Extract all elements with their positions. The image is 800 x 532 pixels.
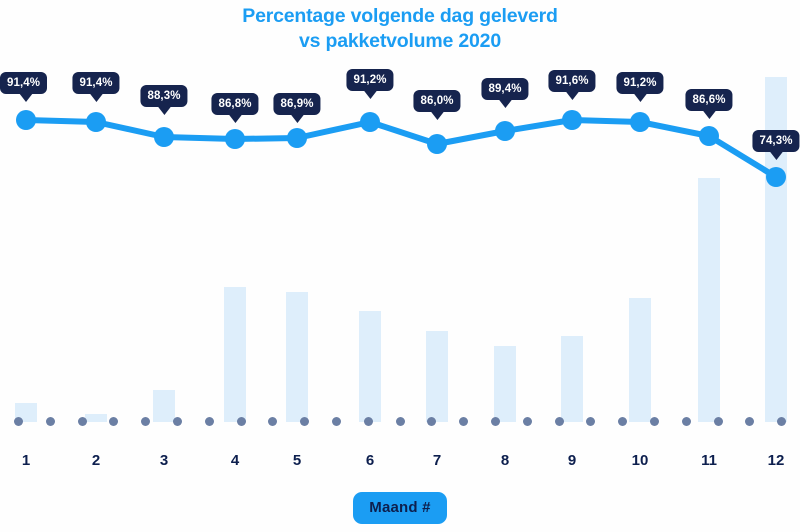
x-tick-12: 12 xyxy=(768,452,785,469)
baseline-dot xyxy=(682,417,691,426)
baseline-dot xyxy=(396,417,405,426)
baseline-dot xyxy=(777,417,786,426)
plot-area xyxy=(0,0,800,440)
baseline-dot xyxy=(523,417,532,426)
baseline-dot xyxy=(14,417,23,426)
value-badge-month-8: 89,4% xyxy=(481,78,528,100)
line-marker-month-9 xyxy=(562,110,582,130)
baseline-dot xyxy=(46,417,55,426)
line-series-layer xyxy=(0,0,800,440)
baseline-dot xyxy=(205,417,214,426)
x-tick-4: 4 xyxy=(231,452,239,469)
line-marker-month-8 xyxy=(495,121,515,141)
baseline-dot xyxy=(268,417,277,426)
baseline-dot xyxy=(586,417,595,426)
baseline-dot xyxy=(364,417,373,426)
x-tick-6: 6 xyxy=(366,452,374,469)
line-marker-month-12 xyxy=(766,167,786,187)
value-badge-month-10: 91,2% xyxy=(616,72,663,94)
x-tick-7: 7 xyxy=(433,452,441,469)
baseline-dot xyxy=(650,417,659,426)
baseline-dot xyxy=(237,417,246,426)
value-badge-month-4: 86,8% xyxy=(211,93,258,115)
x-axis-ticks: 123456789101112 xyxy=(0,452,800,478)
value-badge-month-6: 91,2% xyxy=(346,69,393,91)
x-tick-10: 10 xyxy=(632,452,649,469)
baseline-dot xyxy=(714,417,723,426)
baseline-dot xyxy=(109,417,118,426)
baseline-dot xyxy=(173,417,182,426)
line-marker-month-10 xyxy=(630,112,650,132)
value-badge-month-2: 91,4% xyxy=(72,72,119,94)
line-marker-month-5 xyxy=(287,128,307,148)
x-tick-9: 9 xyxy=(568,452,576,469)
baseline-dot xyxy=(618,417,627,426)
baseline-dot xyxy=(332,417,341,426)
line-marker-month-2 xyxy=(86,112,106,132)
baseline-dot xyxy=(491,417,500,426)
value-badge-month-7: 86,0% xyxy=(413,90,460,112)
x-tick-2: 2 xyxy=(92,452,100,469)
x-tick-3: 3 xyxy=(160,452,168,469)
x-tick-11: 11 xyxy=(701,452,717,469)
baseline-dot xyxy=(459,417,468,426)
value-badge-month-9: 91,6% xyxy=(548,70,595,92)
baseline-dot xyxy=(300,417,309,426)
line-marker-month-3 xyxy=(154,127,174,147)
baseline-dot xyxy=(427,417,436,426)
line-marker-month-4 xyxy=(225,129,245,149)
baseline-dot xyxy=(78,417,87,426)
baseline-dots xyxy=(0,415,800,429)
x-axis-label-wrap: Maand # xyxy=(0,492,800,524)
baseline-dot xyxy=(141,417,150,426)
line-path xyxy=(26,120,776,177)
value-badge-month-5: 86,9% xyxy=(273,93,320,115)
value-badge-month-11: 86,6% xyxy=(685,89,732,111)
value-badge-month-3: 88,3% xyxy=(140,85,187,107)
line-marker-month-6 xyxy=(360,112,380,132)
line-marker-month-7 xyxy=(427,134,447,154)
line-marker-month-11 xyxy=(699,126,719,146)
chart-container: Percentage volgende dag geleverd vs pakk… xyxy=(0,0,800,532)
value-badge-month-12: 74,3% xyxy=(752,130,799,152)
x-tick-8: 8 xyxy=(501,452,509,469)
baseline-dot xyxy=(555,417,564,426)
line-marker-month-1 xyxy=(16,110,36,130)
x-tick-1: 1 xyxy=(22,452,30,469)
baseline-dot xyxy=(745,417,754,426)
value-badge-month-1: 91,4% xyxy=(0,72,47,94)
x-tick-5: 5 xyxy=(293,452,301,469)
x-axis-label: Maand # xyxy=(353,492,446,524)
